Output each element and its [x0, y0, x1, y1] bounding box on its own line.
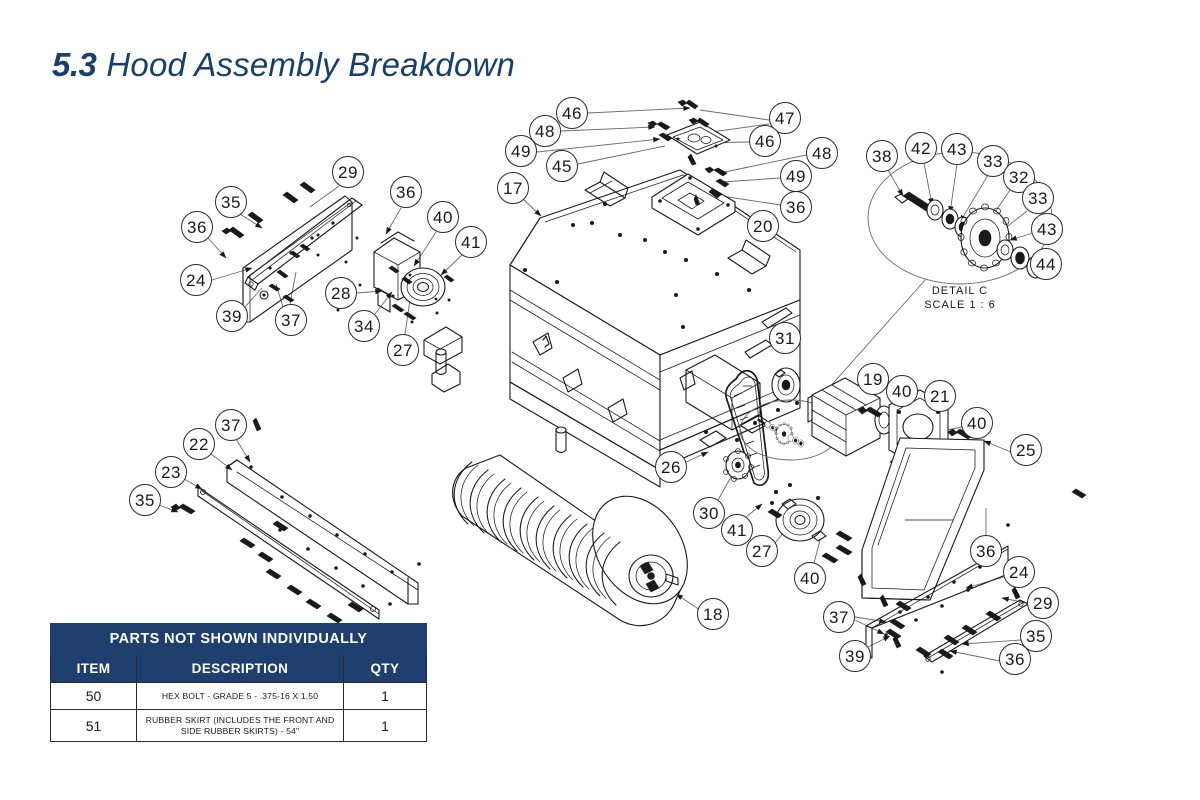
table-row: 51 RUBBER SKIRT (INCLUDES THE FRONT AND … [51, 710, 427, 742]
callout-bubble-43[interactable]: 43 [1031, 213, 1063, 245]
callout-bubble-37[interactable]: 37 [275, 304, 307, 336]
callout-bubble-19[interactable]: 19 [857, 363, 889, 395]
column-header-item: ITEM [51, 655, 137, 683]
callout-bubble-28[interactable]: 28 [325, 277, 357, 309]
callout-bubble-37[interactable]: 37 [215, 409, 247, 441]
callout-bubble-25[interactable]: 25 [1010, 434, 1042, 466]
callout-bubble-29[interactable]: 29 [332, 156, 364, 188]
callout-bubble-36[interactable]: 36 [999, 643, 1031, 675]
callout-bubble-39[interactable]: 39 [216, 300, 248, 332]
callout-bubble-30[interactable]: 30 [693, 497, 725, 529]
column-header-qty: QTY [343, 655, 426, 683]
callout-bubble-23[interactable]: 23 [155, 456, 187, 488]
table-title: PARTS NOT SHOWN INDIVIDUALLY [51, 624, 427, 655]
cell-qty: 1 [343, 683, 426, 710]
callout-bubble-35[interactable]: 35 [129, 484, 161, 516]
callout-bubble-18[interactable]: 18 [697, 598, 729, 630]
callout-bubble-29[interactable]: 29 [1027, 587, 1059, 619]
callout-bubble-40[interactable]: 40 [794, 562, 826, 594]
right-side-shield [862, 438, 984, 600]
cell-item: 51 [51, 710, 137, 742]
column-header-description: DESCRIPTION [137, 655, 344, 683]
callout-bubble-26[interactable]: 26 [655, 451, 687, 483]
callout-bubble-24[interactable]: 24 [1003, 556, 1035, 588]
detail-c-label: DETAIL C SCALE 1 : 6 [900, 285, 1020, 313]
cell-description: RUBBER SKIRT (INCLUDES THE FRONT AND SID… [137, 710, 344, 742]
cell-item: 50 [51, 683, 137, 710]
cell-qty: 1 [343, 710, 426, 742]
callout-bubble-40[interactable]: 40 [961, 407, 993, 439]
table-row: 50 HEX BOLT - GRADE 5 - .375-16 X 1.50 1 [51, 683, 427, 710]
callout-bubble-36[interactable]: 36 [970, 535, 1002, 567]
parts-not-shown-table: PARTS NOT SHOWN INDIVIDUALLY ITEM DESCRI… [50, 623, 427, 742]
table-body: 50 HEX BOLT - GRADE 5 - .375-16 X 1.50 1… [51, 683, 427, 742]
callout-bubble-20[interactable]: 20 [747, 210, 779, 242]
callout-bubble-36[interactable]: 36 [181, 211, 213, 243]
callout-bubble-40[interactable]: 40 [886, 375, 918, 407]
callout-bubble-42[interactable]: 42 [905, 132, 937, 164]
callout-bubble-43[interactable]: 43 [941, 133, 973, 165]
page-root: 5.3Hood Assembly Breakdown .ln { fill:no… [0, 0, 1200, 800]
callout-bubble-17[interactable]: 17 [497, 172, 529, 204]
callout-bubble-35[interactable]: 35 [215, 186, 247, 218]
callout-bubble-46[interactable]: 46 [556, 97, 588, 129]
callout-bubble-37[interactable]: 37 [823, 601, 855, 633]
callout-bubble-40[interactable]: 40 [427, 201, 459, 233]
callout-bubble-49[interactable]: 49 [780, 160, 812, 192]
callout-bubble-27[interactable]: 27 [746, 535, 778, 567]
callout-bubble-36[interactable]: 36 [780, 191, 812, 223]
callout-bubble-39[interactable]: 39 [839, 640, 871, 672]
cell-description: HEX BOLT - GRADE 5 - .375-16 X 1.50 [137, 683, 344, 710]
callout-bubble-34[interactable]: 34 [348, 310, 380, 342]
callout-bubble-49[interactable]: 49 [505, 135, 537, 167]
callout-bubble-31[interactable]: 31 [769, 322, 801, 354]
callout-bubble-33[interactable]: 33 [1022, 182, 1054, 214]
callout-bubble-45[interactable]: 45 [546, 150, 578, 182]
callout-bubble-36[interactable]: 36 [390, 176, 422, 208]
callout-bubble-46[interactable]: 46 [749, 125, 781, 157]
callout-bubble-38[interactable]: 38 [866, 140, 898, 172]
callout-bubble-41[interactable]: 41 [455, 226, 487, 258]
callout-bubble-21[interactable]: 21 [924, 380, 956, 412]
callout-bubble-44[interactable]: 44 [1030, 248, 1062, 280]
callout-bubble-27[interactable]: 27 [387, 334, 419, 366]
callout-bubble-22[interactable]: 22 [183, 428, 215, 460]
callout-bubble-48[interactable]: 48 [806, 137, 838, 169]
callout-bubble-24[interactable]: 24 [180, 264, 212, 296]
left-bearing-bracket [374, 232, 454, 324]
